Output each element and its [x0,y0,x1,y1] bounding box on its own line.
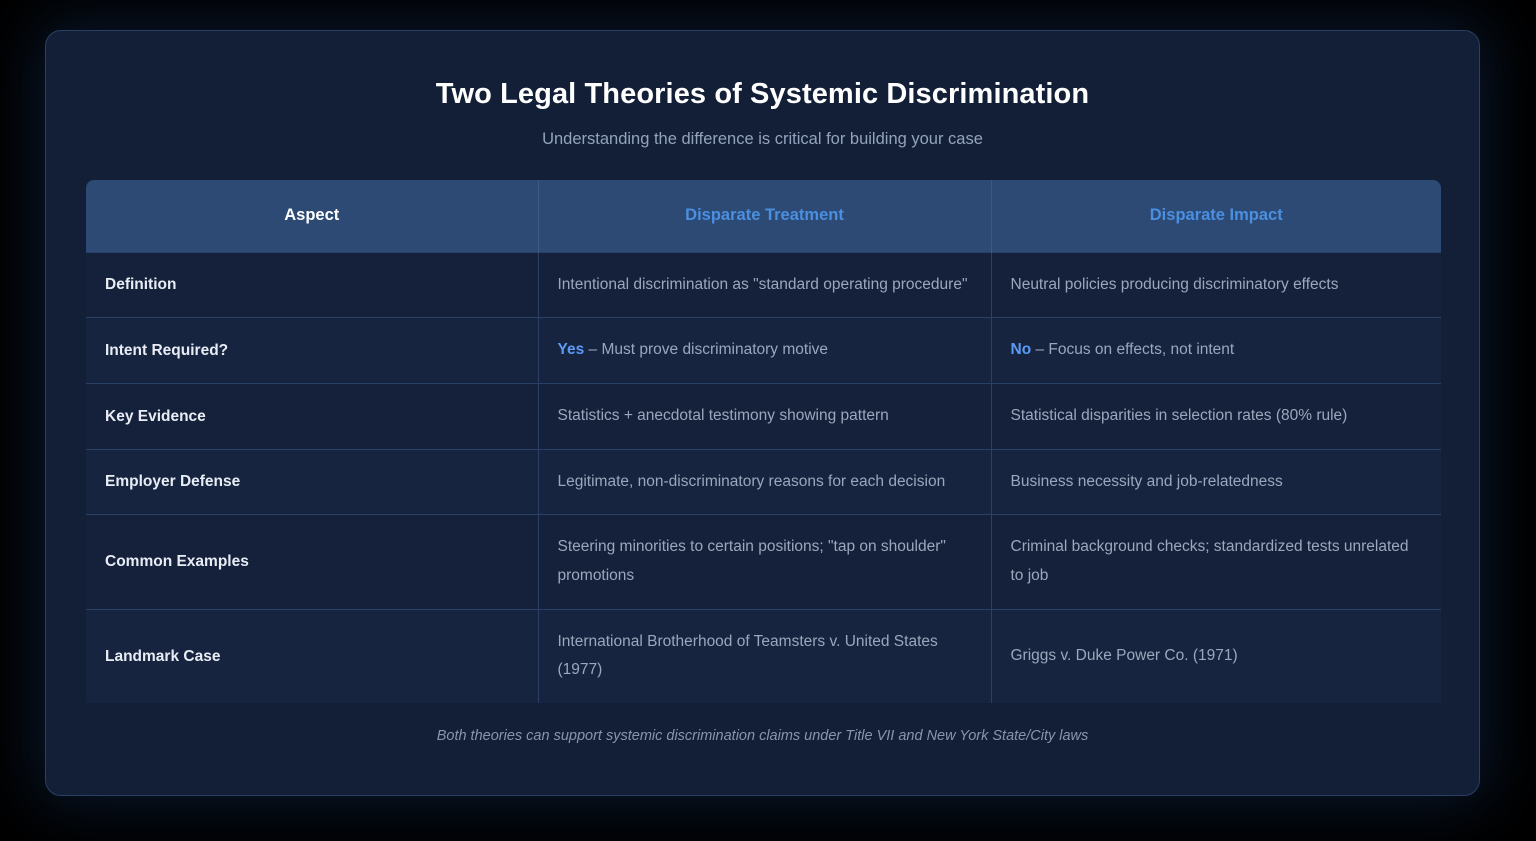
table-row: Definition Intentional discrimination as… [86,252,1441,318]
table-header: Aspect Disparate Treatment Disparate Imp… [86,180,1441,252]
table-row: Employer Defense Legitimate, non-discrim… [86,449,1441,515]
cell-impact: Business necessity and job-relatedness [991,449,1441,515]
table-row: Landmark Case International Brotherhood … [86,609,1441,703]
cell-impact: Criminal background checks; standardized… [991,515,1441,609]
row-aspect-label: Definition [86,252,538,318]
column-header-disparate-treatment: Disparate Treatment [538,180,991,252]
cell-treatment: International Brotherhood of Teamsters v… [538,609,991,703]
row-aspect-label: Employer Defense [86,449,538,515]
table-row: Common Examples Steering minorities to c… [86,515,1441,609]
cell-treatment: Yes – Must prove discriminatory motive [538,318,991,384]
footer-note: Both theories can support systemic discr… [86,728,1439,744]
cell-treatment: Statistics + anecdotal testimony showing… [538,383,991,449]
cell-impact: Statistical disparities in selection rat… [991,383,1441,449]
emphasis-no: No [1011,341,1032,358]
cell-impact: Griggs v. Duke Power Co. (1971) [991,609,1441,703]
comparison-table-wrapper: Aspect Disparate Treatment Disparate Imp… [86,180,1439,703]
emphasis-yes: Yes [558,341,585,358]
column-header-disparate-impact: Disparate Impact [991,180,1441,252]
page-title: Two Legal Theories of Systemic Discrimin… [86,78,1439,111]
page-subtitle: Understanding the difference is critical… [86,130,1439,149]
cell-impact-rest: – Focus on effects, not intent [1031,341,1234,358]
comparison-table: Aspect Disparate Treatment Disparate Imp… [86,180,1441,703]
row-aspect-label: Key Evidence [86,383,538,449]
row-aspect-label: Landmark Case [86,609,538,703]
table-header-row: Aspect Disparate Treatment Disparate Imp… [86,180,1441,252]
table-row: Intent Required? Yes – Must prove discri… [86,318,1441,384]
cell-impact: No – Focus on effects, not intent [991,318,1441,384]
table-row: Key Evidence Statistics + anecdotal test… [86,383,1441,449]
cell-treatment-rest: – Must prove discriminatory motive [584,341,828,358]
column-header-aspect: Aspect [86,180,538,252]
row-aspect-label: Common Examples [86,515,538,609]
row-aspect-label: Intent Required? [86,318,538,384]
content-card: Two Legal Theories of Systemic Discrimin… [45,30,1480,796]
table-body: Definition Intentional discrimination as… [86,252,1441,703]
cell-treatment: Intentional discrimination as "standard … [538,252,991,318]
cell-treatment: Steering minorities to certain positions… [538,515,991,609]
cell-impact: Neutral policies producing discriminator… [991,252,1441,318]
page-background: Two Legal Theories of Systemic Discrimin… [0,0,1536,841]
cell-treatment: Legitimate, non-discriminatory reasons f… [538,449,991,515]
